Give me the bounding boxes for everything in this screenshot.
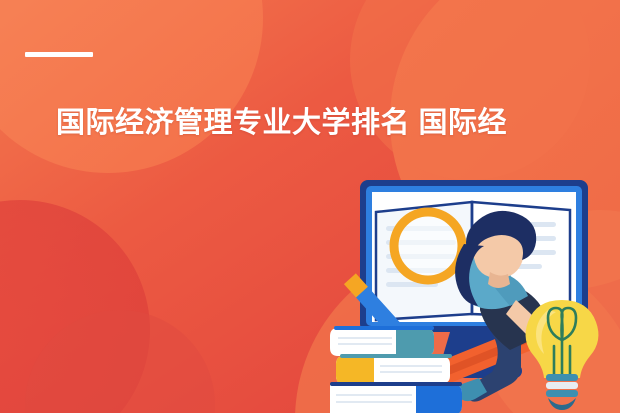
decorative-dash [25,52,93,57]
lightbulb [526,300,599,410]
promo-banner: 国际经济管理专业大学排名 国际经 [0,0,620,413]
online-research-illustration [330,168,620,413]
page-title: 国际经济管理专业大学排名 国际经 [56,104,616,144]
book-stack [330,326,462,413]
